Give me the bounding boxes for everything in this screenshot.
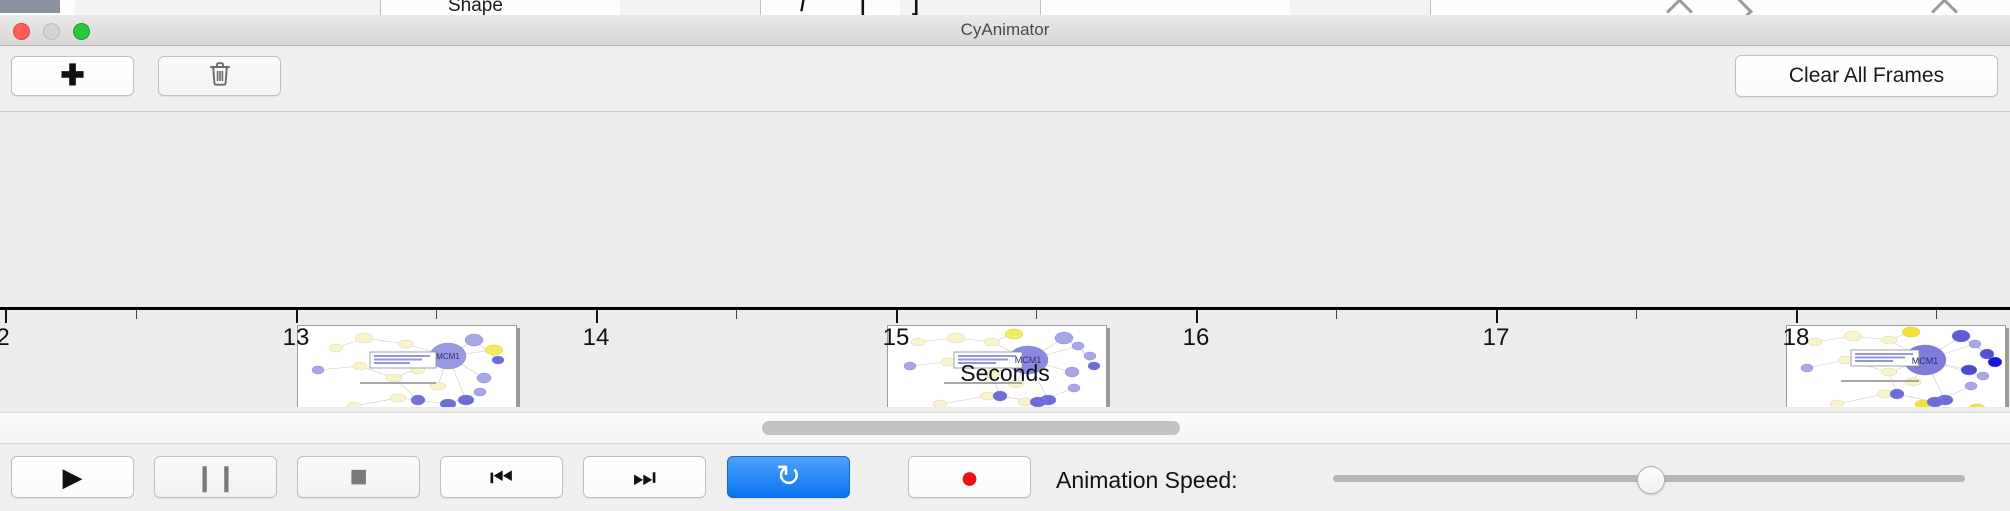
background-window-titlebar-fragment	[0, 0, 60, 13]
axis-tick	[1196, 310, 1198, 323]
loop-icon: ↻	[776, 462, 801, 492]
axis-minor-tick	[1636, 310, 1637, 319]
timeline-panel[interactable]: MCM1	[0, 112, 2010, 407]
toolbar: ✚ Clear All Frames	[0, 46, 2010, 112]
background-chevron-icon	[1666, 0, 1693, 16]
play-button[interactable]: ▶	[11, 456, 134, 498]
background-window-strip: / | ] Shape	[0, 0, 2010, 16]
timeline-scrollbar[interactable]	[0, 412, 2010, 444]
axis-minor-tick	[1936, 310, 1937, 319]
cyanimator-window: / | ] Shape CyAnimator ✚	[0, 0, 2010, 510]
add-frame-button[interactable]: ✚	[11, 56, 134, 96]
previous-frame-button[interactable]: ⏮	[440, 456, 563, 498]
background-shape-label: Shape	[448, 0, 503, 16]
background-chevron-icon	[1931, 0, 1958, 16]
loop-button[interactable]: ↻	[727, 456, 850, 498]
axis-tick	[5, 310, 7, 323]
axis-minor-tick	[1036, 310, 1037, 319]
axis-minor-tick	[736, 310, 737, 319]
play-icon: ▶	[63, 464, 83, 490]
trash-icon	[208, 60, 232, 93]
background-tab	[900, 0, 1041, 15]
axis-tick	[296, 310, 298, 323]
axis-tick-label: 2	[0, 324, 10, 352]
timeline-axis	[0, 307, 2010, 310]
animation-speed-slider-thumb[interactable]	[1637, 466, 1665, 494]
axis-tick	[596, 310, 598, 323]
axis-tick	[1496, 310, 1498, 323]
background-chevron-icon	[1726, 0, 1753, 16]
next-frame-button[interactable]: ⏭	[583, 456, 706, 498]
title-bar: CyAnimator	[0, 15, 2010, 46]
background-glyph: /	[800, 0, 806, 16]
axis-tick-label: 16	[1183, 324, 1210, 352]
delete-frame-button[interactable]	[158, 56, 281, 96]
skip-previous-icon: ⏮	[490, 464, 513, 490]
stop-button[interactable]: ■	[297, 456, 420, 498]
clear-all-frames-button[interactable]: Clear All Frames	[1735, 55, 1998, 97]
background-tab	[185, 0, 241, 15]
plus-icon: ✚	[60, 62, 84, 91]
window-title: CyAnimator	[0, 15, 2010, 45]
axis-tick-label: 15	[883, 324, 910, 352]
axis-tick-label: 14	[583, 324, 610, 352]
axis-tick	[896, 310, 898, 323]
axis-title: Seconds	[0, 360, 2010, 387]
background-glyph: |	[860, 0, 866, 16]
stop-icon: ■	[349, 462, 367, 492]
background-tab	[240, 0, 296, 15]
axis-minor-tick	[136, 310, 137, 319]
skip-next-icon: ⏭	[633, 464, 656, 490]
background-tab	[1290, 0, 1431, 15]
axis-tick-label: 17	[1483, 324, 1510, 352]
scrollbar-thumb[interactable]	[762, 421, 1180, 435]
axis-minor-tick	[436, 310, 437, 319]
animation-speed-label: Animation Speed:	[1056, 467, 1238, 494]
axis-tick	[1796, 310, 1798, 323]
background-tab	[295, 0, 381, 15]
background-glyph: ]	[912, 0, 919, 16]
pause-button[interactable]: ❙❙	[154, 456, 277, 498]
record-icon: ●	[960, 461, 979, 493]
pause-icon: ❙❙	[194, 464, 238, 490]
axis-tick-label: 18	[1783, 324, 1810, 352]
axis-minor-tick	[1336, 310, 1337, 319]
record-button[interactable]: ●	[908, 456, 1031, 498]
background-tab	[620, 0, 761, 15]
background-tab	[75, 0, 186, 15]
playback-control-bar: ▶ ❙❙ ■ ⏮ ⏭ ↻ ● Animation Speed:	[0, 443, 2010, 511]
axis-tick-label: 13	[283, 324, 310, 352]
